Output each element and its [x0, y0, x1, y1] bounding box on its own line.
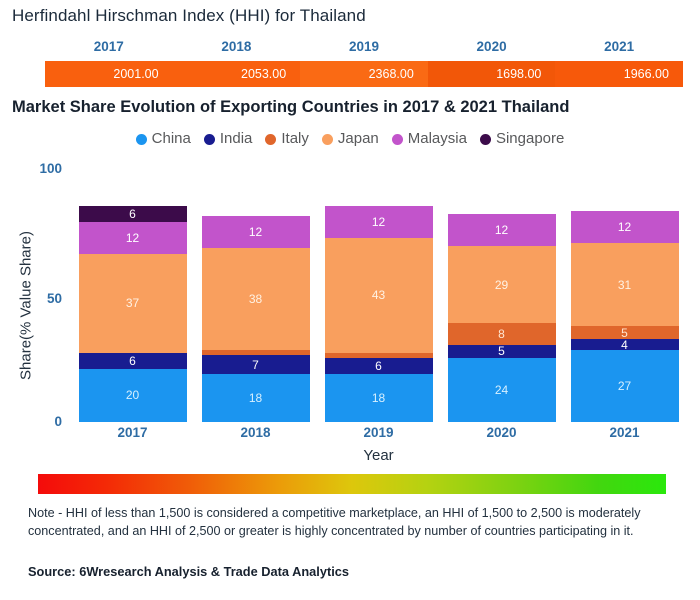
bar-segment-singapore[interactable]: 6 — [79, 206, 187, 222]
x-axis-label: 2021 — [563, 425, 686, 440]
source-text: Source: 6Wresearch Analysis & Trade Data… — [28, 564, 349, 579]
legend-item-japan[interactable]: Japan — [322, 131, 379, 147]
legend-item-label: Japan — [338, 131, 379, 147]
bar-group-2020: 24582912 — [440, 155, 563, 422]
hhi-year-label: 2019 — [300, 36, 428, 58]
chart-plot-area: Share(% Value Share) 100 50 0 2063712618… — [0, 155, 700, 440]
x-axis-label: 2020 — [440, 425, 563, 440]
bar-segment-india[interactable]: 5 — [448, 345, 556, 358]
bar-stack: 1864312 — [325, 206, 433, 422]
hhi-value-cell: 2053.00 — [173, 61, 301, 87]
x-axis-title: Year — [71, 447, 686, 464]
hhi-title: Herfindahl Hirschman Index (HHI) for Tha… — [12, 6, 366, 26]
hhi-value-cell: 2368.00 — [300, 61, 428, 87]
bar-segment-japan[interactable]: 29 — [448, 246, 556, 323]
bar-stack: 1873812 — [202, 216, 310, 422]
hhi-year-label: 2018 — [173, 36, 301, 58]
legend-item-singapore[interactable]: Singapore — [480, 131, 564, 147]
y-axis-tick-100: 100 — [18, 161, 62, 176]
bar-segment-japan[interactable]: 31 — [571, 243, 679, 326]
bar-segment-italy[interactable]: 8 — [448, 323, 556, 344]
x-axis-label: 2018 — [194, 425, 317, 440]
bar-segment-malaysia[interactable]: 12 — [448, 214, 556, 246]
bar-segment-india[interactable]: 6 — [79, 353, 187, 369]
bar-stack: 20637126 — [79, 206, 187, 422]
bar-segment-malaysia[interactable]: 12 — [79, 222, 187, 254]
chart-legend: ChinaIndiaItalyJapanMalaysiaSingapore — [0, 131, 700, 147]
hhi-value-cell: 2001.00 — [45, 61, 173, 87]
hhi-value-cell: 1966.00 — [555, 61, 683, 87]
legend-item-italy[interactable]: Italy — [265, 131, 309, 147]
bar-segment-japan[interactable]: 43 — [325, 238, 433, 353]
hhi-year-label: 2021 — [555, 36, 683, 58]
bar-segment-malaysia[interactable]: 12 — [202, 216, 310, 248]
bar-segment-india[interactable]: 6 — [325, 358, 433, 374]
y-axis-tick-0: 0 — [18, 414, 62, 429]
x-axis-label: 2019 — [317, 425, 440, 440]
x-axis-label: 2017 — [71, 425, 194, 440]
bar-group-2019: 1864312 — [317, 155, 440, 422]
legend-item-label: Singapore — [496, 131, 564, 147]
x-axis-tick-labels: 20172018201920202021 — [71, 425, 686, 440]
stacked-bar-series: 20637126187381218643122458291227453112 — [71, 155, 686, 422]
hhi-year-header-row: 20172018201920202021 — [45, 36, 683, 58]
bar-segment-china[interactable]: 18 — [325, 374, 433, 422]
bar-group-2017: 20637126 — [71, 155, 194, 422]
legend-swatch-icon — [322, 134, 333, 145]
legend-item-label: China — [152, 131, 191, 147]
bar-segment-china[interactable]: 20 — [79, 369, 187, 422]
legend-swatch-icon — [136, 134, 147, 145]
bar-segment-india[interactable]: 7 — [202, 355, 310, 374]
hhi-value-cell: 1698.00 — [428, 61, 556, 87]
bar-segment-india[interactable]: 4 — [571, 339, 679, 350]
legend-swatch-icon — [480, 134, 491, 145]
bar-segment-japan[interactable]: 37 — [79, 254, 187, 353]
bar-segment-china[interactable]: 27 — [571, 350, 679, 422]
bar-segment-japan[interactable]: 38 — [202, 248, 310, 349]
bar-group-2021: 27453112 — [563, 155, 686, 422]
legend-swatch-icon — [265, 134, 276, 145]
legend-item-china[interactable]: China — [136, 131, 191, 147]
chart-title: Market Share Evolution of Exporting Coun… — [12, 98, 569, 117]
y-axis-tick-50: 50 — [18, 291, 62, 306]
bar-stack: 27453112 — [571, 211, 679, 422]
legend-item-malaysia[interactable]: Malaysia — [392, 131, 467, 147]
bar-segment-china[interactable]: 18 — [202, 374, 310, 422]
hhi-gradient-scale — [38, 474, 666, 494]
legend-item-india[interactable]: India — [204, 131, 253, 147]
legend-swatch-icon — [204, 134, 215, 145]
hhi-value-band: 2001.002053.002368.001698.001966.00 — [45, 61, 683, 87]
hhi-year-label: 2017 — [45, 36, 173, 58]
legend-swatch-icon — [392, 134, 403, 145]
bar-stack: 24582912 — [448, 214, 556, 422]
hhi-year-label: 2020 — [428, 36, 556, 58]
bar-segment-china[interactable]: 24 — [448, 358, 556, 422]
bar-segment-malaysia[interactable]: 12 — [325, 206, 433, 238]
note-text: Note - HHI of less than 1,500 is conside… — [28, 505, 668, 540]
bar-segment-malaysia[interactable]: 12 — [571, 211, 679, 243]
bar-group-2018: 1873812 — [194, 155, 317, 422]
legend-item-label: Italy — [281, 131, 309, 147]
bar-segment-italy[interactable]: 5 — [571, 326, 679, 339]
legend-item-label: India — [220, 131, 253, 147]
legend-item-label: Malaysia — [408, 131, 467, 147]
